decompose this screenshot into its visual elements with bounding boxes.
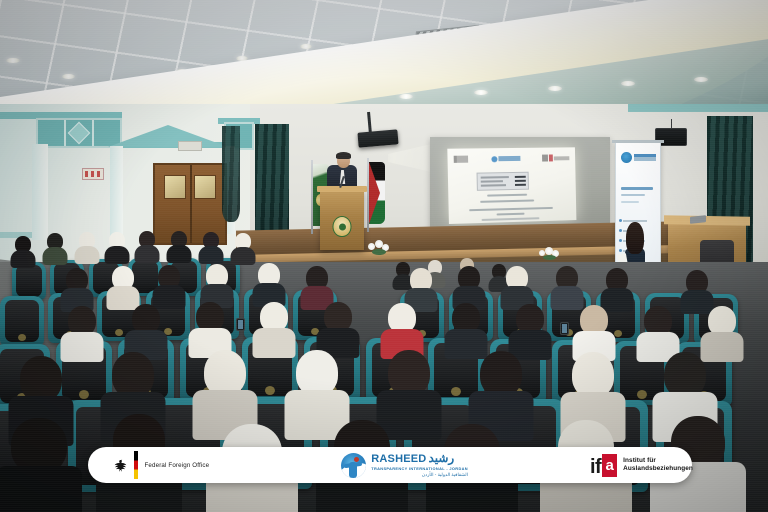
audience-member	[124, 304, 168, 356]
presenter-hair	[336, 152, 351, 159]
german-tricolor-bar	[134, 451, 138, 479]
audience-member	[106, 266, 140, 306]
audience-member	[252, 263, 286, 303]
audience-member	[404, 268, 438, 308]
slide-logo-row	[454, 152, 570, 165]
audience-member	[252, 302, 296, 354]
federal-foreign-office-label: Federal Foreign Office	[145, 462, 210, 469]
smartphone-icon	[560, 322, 569, 335]
ifa-logo: if a Institut für Auslandsbeziehungen	[590, 447, 693, 483]
slide-rasheed-logo-icon	[491, 155, 520, 161]
downlight-icon	[694, 77, 708, 82]
downlight-icon	[62, 74, 75, 79]
downlight-icon	[621, 81, 635, 86]
slide-ifa-logo-icon	[542, 154, 569, 161]
slide-ffo-logo-icon	[454, 156, 468, 163]
ifa-line2: Auslandsbeziehungen	[623, 465, 693, 473]
audience-member	[500, 266, 534, 306]
curtain-far-left	[222, 126, 240, 222]
audience-member	[188, 302, 232, 354]
downlight-icon	[548, 86, 562, 91]
slide-text-line	[487, 194, 527, 197]
smartphone-icon	[236, 318, 245, 331]
wall-mounted-box	[178, 141, 202, 151]
slide-qr-block	[477, 172, 529, 191]
jordan-flag	[364, 158, 374, 232]
downlight-icon	[300, 44, 312, 49]
rasheed-subtitle-en: TRANSPARENCY INTERNATIONAL - JORDAN	[371, 466, 468, 471]
audience-member	[600, 268, 634, 308]
wall-pediment	[108, 125, 228, 147]
slide-text-line	[497, 213, 525, 216]
audience-member	[508, 304, 552, 356]
audience-member	[300, 266, 334, 306]
audience-member	[104, 232, 130, 262]
audience-member	[74, 232, 100, 262]
sponsor-logo-bar: Federal Foreign Office RASHEED رشيد TRAN…	[88, 447, 692, 483]
audience-member	[42, 233, 68, 263]
auditorium-seat	[0, 296, 44, 346]
diamond-pane-icon	[68, 122, 91, 145]
audience-member	[680, 270, 714, 310]
audience-member	[316, 302, 360, 354]
ifa-mark-icon: if a	[590, 454, 617, 477]
rasheed-name-en: RASHEED	[371, 454, 426, 465]
audience-member	[550, 266, 584, 306]
german-eagle-icon	[114, 458, 127, 472]
university-crest-icon	[333, 216, 352, 237]
ceiling	[0, 0, 768, 118]
banner-rasheed-logo-icon	[621, 152, 656, 163]
audience-member	[134, 231, 160, 261]
door-window-icon	[164, 175, 186, 199]
ifa-line1: Institut für	[623, 457, 693, 465]
audience-member	[166, 231, 192, 261]
rasheed-wordmark: RASHEED رشيد TRANSPARENCY INTERNATIONAL …	[371, 452, 468, 478]
audience-member	[152, 265, 186, 305]
door-window-icon	[194, 175, 216, 199]
podium	[320, 190, 364, 250]
rasheed-globe-icon	[341, 453, 366, 478]
audience-member	[444, 303, 488, 355]
audience-member	[60, 268, 94, 308]
audience-member	[572, 305, 616, 357]
audience-member	[10, 236, 36, 266]
downlight-icon	[6, 58, 20, 63]
federal-foreign-office-logo: Federal Foreign Office	[114, 447, 209, 483]
audience-member	[200, 264, 234, 304]
slide-text-line	[469, 207, 553, 211]
flower-arrangement	[538, 247, 568, 263]
ifa-red-box: a	[602, 454, 617, 477]
audience-member	[380, 303, 424, 355]
wall-sign-icon	[82, 168, 104, 180]
ifa-if-letters: if	[590, 458, 601, 477]
projected-slide	[447, 147, 576, 224]
flower-arrangement	[366, 240, 396, 256]
ifa-a-letter: a	[606, 458, 614, 473]
slide-text-line	[482, 217, 540, 221]
rasheed-name-ar: رشيد	[428, 452, 454, 464]
teal-trim	[628, 104, 768, 112]
audience-member	[198, 232, 224, 262]
audience-member	[636, 306, 680, 358]
university-flag	[308, 160, 318, 234]
audience-member	[60, 306, 104, 358]
photo-canvas: Federal Foreign Office RASHEED رشيد TRAN…	[0, 0, 768, 512]
downlight-icon	[474, 90, 488, 95]
slide-text-line	[480, 199, 534, 202]
wall-pilaster	[110, 146, 123, 238]
audience-member	[230, 233, 256, 263]
rasheed-logo: RASHEED رشيد TRANSPARENCY INTERNATIONAL …	[341, 447, 468, 483]
wall-pilaster	[32, 144, 48, 240]
rasheed-subtitle-ar: الشفافية الدولية - الأردن	[371, 472, 468, 478]
downlight-icon	[399, 94, 413, 99]
audience-member	[452, 266, 486, 306]
audience-member	[700, 306, 744, 358]
audience-member-foreground	[0, 418, 82, 512]
ifa-wordmark: Institut für Auslandsbeziehungen	[623, 457, 693, 473]
